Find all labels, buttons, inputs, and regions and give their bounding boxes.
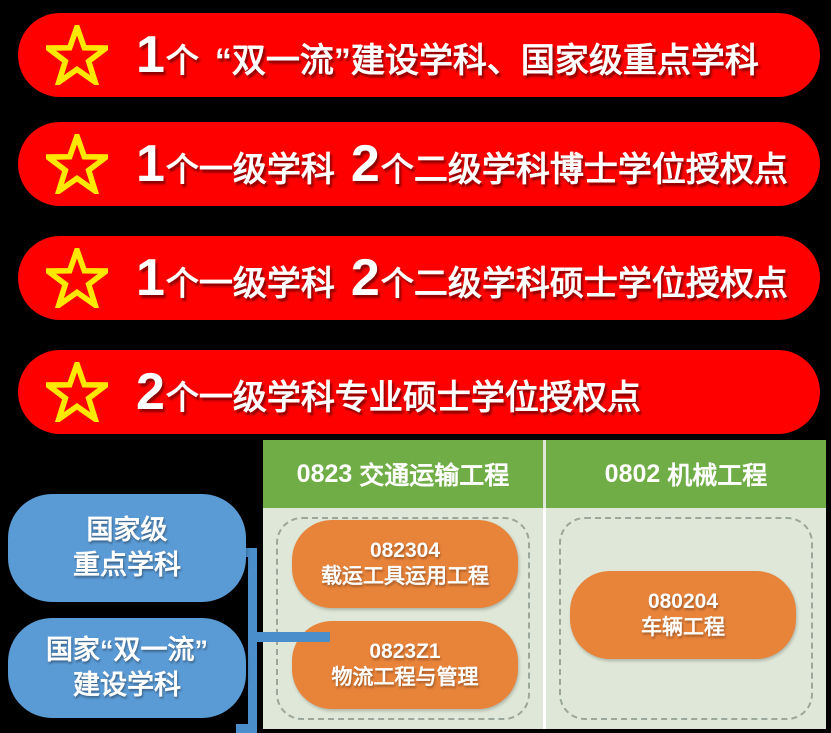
- callout-line-2: 重点学科: [73, 548, 181, 583]
- highlight-text-3: 1个一级学科2个二级学科硕士学位授权点: [136, 252, 788, 304]
- callout-national-key-discipline: 国家级 重点学科: [8, 494, 246, 602]
- highlight-label-3b: 二级学科硕士学位授权点: [414, 267, 788, 301]
- highlight-text-2: 1个一级学科2个二级学科博士学位授权点: [136, 138, 788, 190]
- highlight-unit-4: 个: [166, 381, 199, 414]
- star-icon: [18, 25, 136, 85]
- star-icon: [18, 134, 136, 194]
- highlight-label-1: “双一流”建设学科、国家级重点学科: [215, 44, 759, 78]
- highlight-number-3a: 1: [136, 252, 166, 304]
- highlight-label-4: 一级学科专业硕士学位授权点: [199, 381, 641, 415]
- highlight-number-2a: 1: [136, 138, 166, 190]
- disciplines-table-header: 0823交通运输工程 0802机械工程: [263, 440, 826, 508]
- subject-code: 080204: [648, 589, 718, 615]
- discipline-name-0: 交通运输工程: [359, 456, 509, 492]
- subject-chip: 080204 车辆工程: [570, 571, 796, 659]
- subject-name: 载运工具运用工程: [321, 564, 489, 590]
- highlight-number-3b: 2: [351, 252, 381, 304]
- discipline-column-header-1: 0802机械工程: [546, 440, 826, 508]
- discipline-code-1: 0802: [605, 460, 668, 489]
- subject-name: 车辆工程: [641, 615, 725, 641]
- highlight-row-2: 1个一级学科2个二级学科博士学位授权点: [18, 122, 820, 206]
- highlight-row-1: 1个“双一流”建设学科、国家级重点学科: [18, 13, 820, 97]
- highlight-text-1: 1个“双一流”建设学科、国家级重点学科: [136, 29, 759, 81]
- discipline-name-1: 机械工程: [667, 456, 767, 492]
- subject-code: 082304: [370, 538, 440, 564]
- highlight-number-1: 1: [136, 29, 166, 81]
- highlight-unit-2a: 个: [166, 153, 199, 186]
- discipline-column-1: 080204 车辆工程: [546, 508, 826, 729]
- disciplines-table-body: 082304 载运工具运用工程 0823Z1 物流工程与管理 080204 车辆…: [263, 508, 826, 729]
- highlight-unit-3a: 个: [166, 267, 199, 300]
- highlight-unit-3b: 个: [381, 267, 414, 300]
- star-icon: [18, 248, 136, 308]
- highlight-text-4: 2个一级学科专业硕士学位授权点: [136, 366, 641, 418]
- callout-line-2: 建设学科: [73, 668, 181, 703]
- highlight-row-4: 2个一级学科专业硕士学位授权点: [18, 350, 820, 434]
- highlight-label-3a: 一级学科: [199, 267, 335, 301]
- highlight-unit-1: 个: [166, 44, 199, 77]
- subject-name: 物流工程与管理: [332, 665, 479, 691]
- highlight-number-2b: 2: [351, 138, 381, 190]
- highlight-number-4: 2: [136, 366, 166, 418]
- highlight-label-2a: 一级学科: [199, 153, 335, 187]
- callout-line-1: 国家级: [87, 513, 168, 548]
- highlight-label-2b: 二级学科博士学位授权点: [414, 153, 788, 187]
- callout-line-1: 国家“双一流”: [46, 633, 208, 668]
- callout-double-first-class: 国家“双一流” 建设学科: [8, 618, 246, 718]
- highlight-row-3: 1个一级学科2个二级学科硕士学位授权点: [18, 236, 820, 320]
- subject-code: 0823Z1: [369, 639, 440, 665]
- highlight-unit-2b: 个: [381, 153, 414, 186]
- disciplines-table: 0823交通运输工程 0802机械工程 082304 载运工具运用工程 0823…: [263, 440, 826, 729]
- star-icon: [18, 362, 136, 422]
